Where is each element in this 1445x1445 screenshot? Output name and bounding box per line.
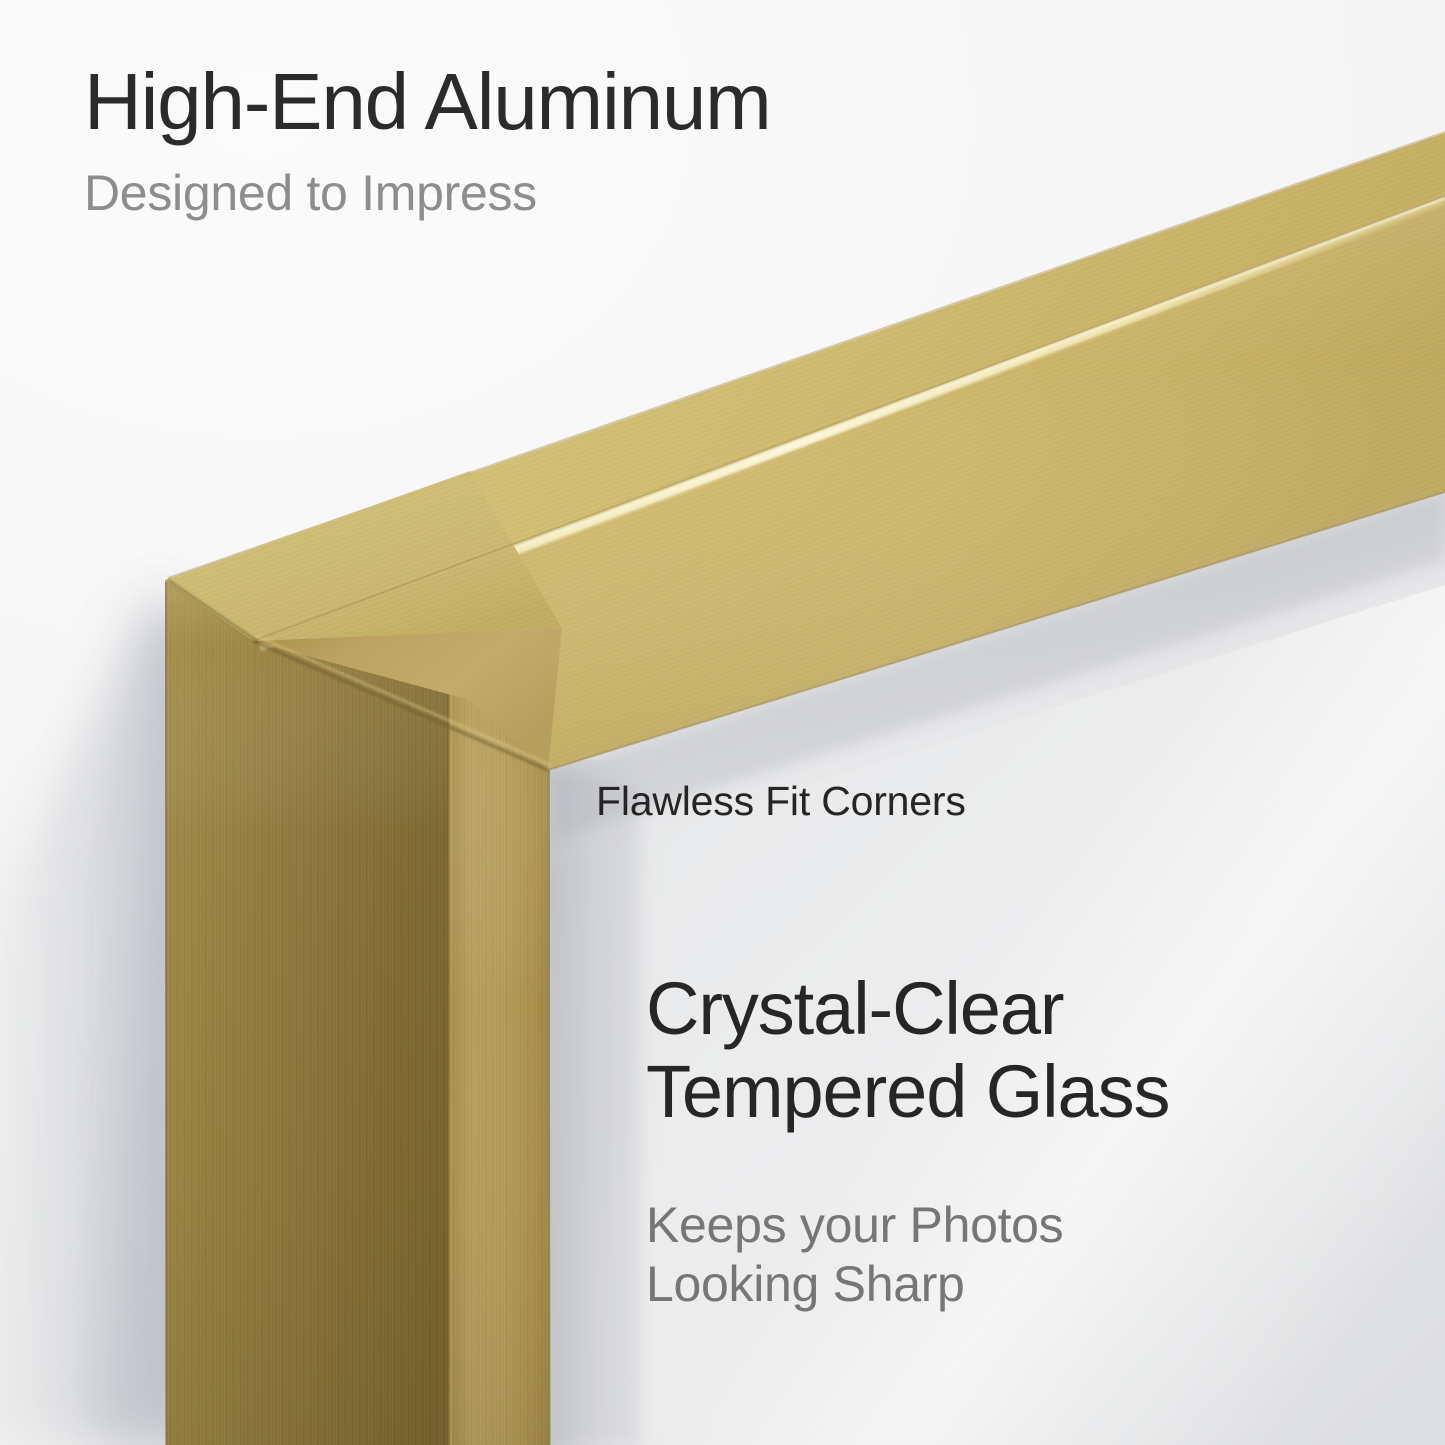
callout-glass-heading: Crystal-Clear Tempered Glass bbox=[646, 968, 1406, 1134]
stile-contact-shadow bbox=[550, 772, 640, 1445]
product-feature-image: High-End Aluminum Designed to Impress bbox=[0, 0, 1445, 1445]
callout-glass-sub-line-2: Looking Sharp bbox=[646, 1255, 1346, 1314]
callout-glass-heading-line-1: Crystal-Clear bbox=[646, 968, 1406, 1051]
frame-stile-outer-face bbox=[160, 570, 460, 1445]
callout-glass-sub-line-1: Keeps your Photos bbox=[646, 1196, 1346, 1255]
callout-corner-label: Flawless Fit Corners bbox=[596, 778, 966, 825]
callout-glass-subtext: Keeps your Photos Looking Sharp bbox=[646, 1196, 1346, 1313]
callout-glass-heading-line-2: Tempered Glass bbox=[646, 1051, 1406, 1134]
